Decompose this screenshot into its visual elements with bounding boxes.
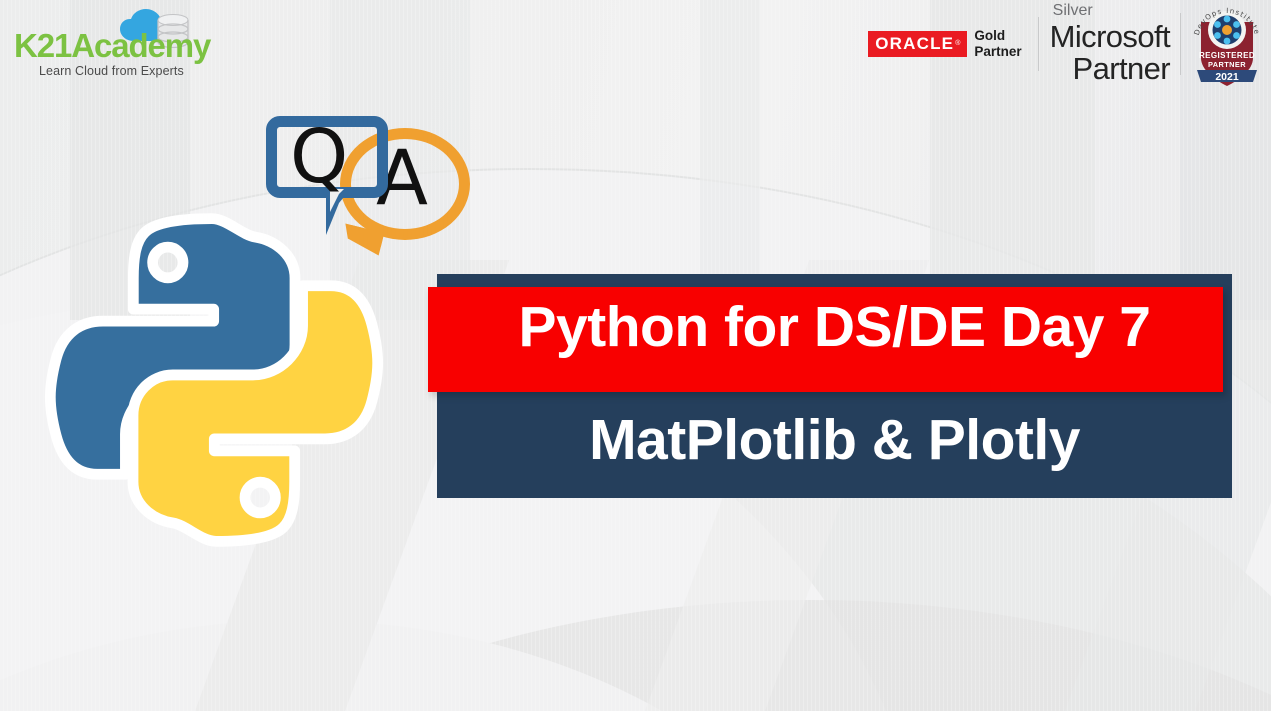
oracle-tier-text: Gold Partner: [974, 28, 1021, 60]
oracle-tier-line2: Partner: [974, 44, 1021, 60]
devops-institute-registered-partner-badge: DevOps Institute REGISTERED PARTNER 2021: [1187, 0, 1267, 88]
devops-line1: REGISTERED: [1199, 51, 1255, 60]
brand-logo: K21Academy Learn Cloud from Experts: [14, 6, 199, 82]
title-line-1: Python for DS/DE Day 7: [437, 274, 1232, 379]
python-logo: [40, 206, 388, 554]
partner-badges: ORACLE® Gold Partner Silver Microsoft Pa…: [868, 0, 1271, 88]
devops-line2: PARTNER: [1208, 60, 1246, 69]
badge-divider-2: [1180, 13, 1181, 75]
oracle-gold-partner-badge: ORACLE® Gold Partner: [868, 28, 1033, 60]
microsoft-wordmark: Microsoft: [1050, 21, 1170, 53]
title-banner: Python for DS/DE Day 7 MatPlotlib & Plot…: [437, 274, 1232, 498]
slide-canvas: K21Academy Learn Cloud from Experts ORAC…: [0, 0, 1271, 711]
oracle-tier-line1: Gold: [974, 28, 1021, 44]
registered-trademark-icon: ®: [955, 40, 960, 47]
question-letter: Q: [290, 120, 348, 194]
brand-name-part1: K21: [14, 27, 71, 64]
microsoft-partner-label: Partner: [1050, 53, 1170, 85]
brand-wordmark: K21Academy: [14, 29, 199, 62]
oracle-logo: ORACLE®: [868, 31, 967, 57]
devops-year: 2021: [1215, 71, 1239, 83]
title-line-2: MatPlotlib & Plotly: [437, 392, 1232, 488]
oracle-wordmark: ORACLE: [875, 35, 954, 52]
brand-tagline: Learn Cloud from Experts: [39, 64, 184, 78]
devops-badge-icon: DevOps Institute REGISTERED PARTNER 2021: [1187, 0, 1267, 88]
brand-name-part2: Academy: [71, 27, 210, 64]
microsoft-tier-label: Silver: [1053, 3, 1170, 19]
badge-divider-1: [1038, 17, 1039, 71]
microsoft-silver-partner-badge: Silver Microsoft Partner: [1050, 3, 1180, 85]
